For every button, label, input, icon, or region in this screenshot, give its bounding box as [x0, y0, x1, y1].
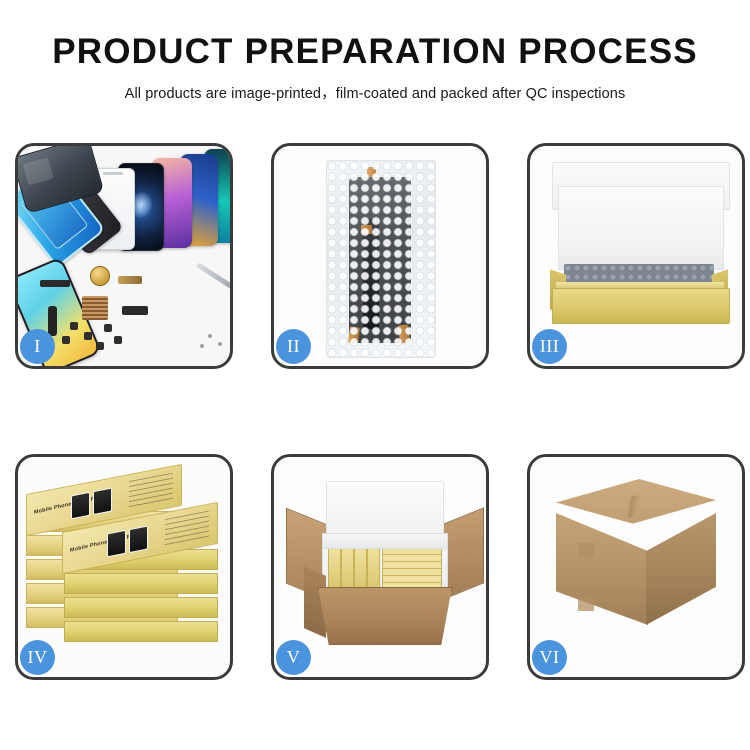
yellow-box-icon	[354, 547, 367, 593]
bubble-wrap-photo	[274, 146, 486, 366]
step-panel-2: II	[271, 143, 489, 369]
small-component-icon	[104, 324, 112, 332]
small-component-icon	[70, 322, 78, 330]
step-panel-1: I	[15, 143, 233, 369]
speaker-coil-icon	[90, 266, 110, 286]
box-product-image-icon	[107, 530, 126, 558]
step-panel-5: V	[271, 454, 489, 680]
carton-loading-photo	[274, 457, 486, 677]
step-panel-4: Mobile Phone Spare Parts Mobile Phone Sp…	[15, 454, 233, 680]
bubble-bag-icon	[326, 160, 436, 358]
box-spec-lines	[165, 511, 209, 548]
step-badge-2: II	[276, 329, 311, 364]
box-layer-icon	[64, 621, 218, 642]
yellow-box-icon	[328, 547, 341, 593]
step-badge-4: IV	[20, 640, 55, 675]
step-badge-6: VI	[532, 640, 567, 675]
page-title: PRODUCT PREPARATION PROCESS	[0, 34, 750, 71]
flex-cable-1-icon	[40, 280, 70, 287]
inner-box-photo	[530, 146, 742, 366]
step-badge-1: I	[20, 329, 55, 364]
carton-face-left-icon	[556, 513, 648, 625]
box-product-image-icon	[129, 525, 148, 553]
carton-tape-icon	[578, 597, 594, 611]
product-preparation-infographic: PRODUCT PREPARATION PROCESS All products…	[0, 0, 750, 750]
step-panel-3: III	[527, 143, 745, 369]
carton-tape-icon	[578, 543, 594, 557]
step-card-4: Mobile Phone Spare Parts Mobile Phone Sp…	[15, 454, 233, 680]
screw-icon	[200, 344, 204, 348]
yellow-box-stack-icon	[382, 547, 442, 593]
flex-cable-4-icon	[122, 306, 148, 315]
box-front-icon	[552, 288, 730, 324]
box-stack-photo: Mobile Phone Spare Parts Mobile Phone Sp…	[18, 457, 230, 677]
steps-grid: I II	[15, 143, 745, 680]
box-product-image-icon	[71, 492, 90, 520]
box-layer-icon	[64, 573, 218, 594]
phone-parts-photo	[18, 146, 230, 366]
step-panel-6: VI	[527, 454, 745, 680]
page-subtitle: All products are image-printed，film-coat…	[0, 82, 750, 103]
step-card-1: I	[15, 143, 233, 369]
logic-board-chip-icon	[82, 296, 108, 320]
foam-sheet-icon	[558, 186, 724, 270]
step-card-3: III	[527, 143, 745, 369]
box-product-image-icon	[93, 487, 112, 515]
small-component-icon	[114, 336, 122, 344]
box-layer-icon	[64, 597, 218, 618]
foam-lip-icon	[322, 533, 448, 549]
step-card-6: VI	[527, 454, 745, 680]
box-spec-lines	[129, 473, 173, 510]
header: PRODUCT PREPARATION PROCESS All products…	[0, 34, 750, 103]
small-component-icon	[62, 336, 70, 344]
screw-icon	[208, 334, 212, 338]
carton-face-right-icon	[646, 513, 716, 625]
yellow-box-icon	[341, 547, 354, 593]
carton-front-icon	[318, 587, 452, 645]
screw-icon	[218, 342, 222, 346]
foam-lid-icon	[326, 481, 444, 541]
step-badge-3: III	[532, 329, 567, 364]
small-component-icon	[96, 342, 104, 350]
tweezers-icon	[196, 262, 230, 290]
step-badge-5: V	[276, 640, 311, 675]
sealed-carton-photo	[530, 457, 742, 677]
small-component-icon	[84, 332, 92, 340]
flex-cable-3-icon	[48, 306, 57, 336]
step-card-5: V	[271, 454, 489, 680]
yellow-box-icon	[367, 547, 380, 593]
bubble-texture	[327, 161, 435, 357]
step-card-2: II	[271, 143, 489, 369]
flex-cable-2-icon	[118, 276, 142, 284]
